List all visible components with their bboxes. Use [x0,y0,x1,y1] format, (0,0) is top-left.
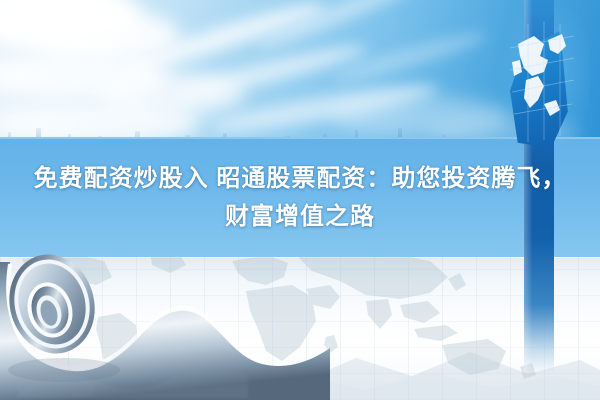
globe-continents [504,18,580,148]
mountain-silhouette [0,330,600,400]
stock-financing-banner: 免费配资炒股入 昭通股票配资：助您投资腾飞， 财富增值之路 [0,0,600,400]
globe-graphic [504,18,580,148]
lower-panel [0,257,600,400]
headline-line-2: 财富增值之路 [0,198,600,236]
page-title: 免费配资炒股入 昭通股票配资：助您投资腾飞， 财富增值之路 [0,160,600,236]
headline-line-1: 免费配资炒股入 昭通股票配资：助您投资腾飞， [0,160,600,198]
